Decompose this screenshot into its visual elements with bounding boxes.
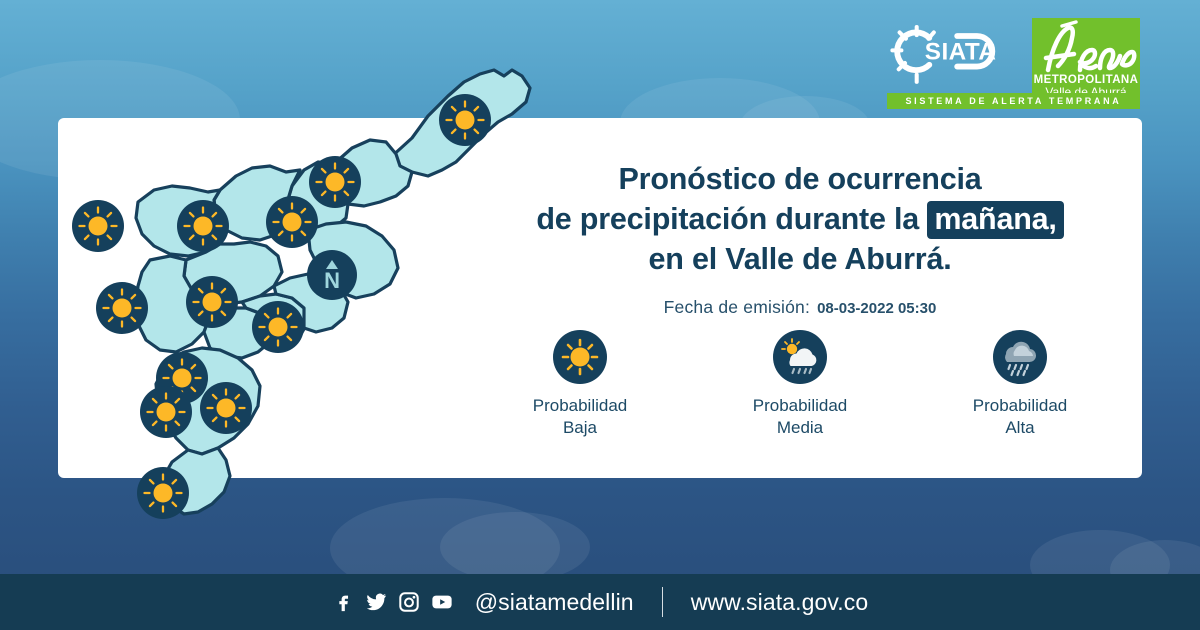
emission-date-value: 08-03-2022 05:30	[817, 300, 936, 317]
emission-date-row: Fecha de emisión: 08-03-2022 05:30	[455, 297, 1145, 318]
probability-legend: Probabilidad Baja Probabilidad Media	[480, 330, 1120, 440]
footer-divider	[662, 587, 663, 617]
rain-cloud-icon	[993, 330, 1047, 384]
headline-highlight: mañana,	[927, 201, 1063, 239]
emission-date-label: Fecha de emisión:	[664, 297, 810, 318]
legend-label-alta: Probabilidad Alta	[973, 395, 1068, 440]
page-title: Pronóstico de ocurrencia de precipitació…	[455, 160, 1145, 280]
social-links	[332, 591, 453, 613]
headline-line-2: de precipitación durante la mañana,	[455, 200, 1145, 240]
area-metropolitana-logo: METROPOLITANA Valle de Aburrá	[1032, 18, 1140, 103]
instagram-icon[interactable]	[398, 591, 420, 613]
text-block: Pronóstico de ocurrencia de precipitació…	[455, 160, 1145, 318]
legend-item-alta: Probabilidad Alta	[920, 330, 1120, 440]
sun-rain-cloud-icon	[773, 330, 827, 384]
legend-label-media: Probabilidad Media	[753, 395, 848, 440]
twitter-icon[interactable]	[365, 591, 387, 613]
area-script-mark	[1032, 20, 1140, 76]
youtube-icon[interactable]	[431, 591, 453, 613]
sun-icon	[553, 330, 607, 384]
website-url[interactable]: www.siata.gov.co	[691, 589, 869, 616]
headline-line-3: en el Valle de Aburrá.	[455, 240, 1145, 280]
facebook-icon[interactable]	[332, 591, 354, 613]
cloud-decoration	[440, 512, 590, 582]
legend-label-baja: Probabilidad Baja	[533, 395, 628, 440]
legend-item-media: Probabilidad Media	[700, 330, 900, 440]
headline-line-1: Pronóstico de ocurrencia	[455, 160, 1145, 200]
logo-bar: SIATA METROPOLITANA Valle de Aburrá	[887, 18, 1140, 103]
siata-logo: SIATA	[887, 18, 1022, 90]
legend-item-baja: Probabilidad Baja	[480, 330, 680, 440]
svg-text:SIATA: SIATA	[925, 38, 997, 65]
footer-bar: @siatamedellin www.siata.gov.co	[0, 574, 1200, 630]
headline-line-2-pre: de precipitación durante la	[536, 202, 919, 236]
social-handle[interactable]: @siatamedellin	[475, 589, 634, 616]
tagline-bar: SISTEMA DE ALERTA TEMPRANA	[887, 93, 1140, 109]
